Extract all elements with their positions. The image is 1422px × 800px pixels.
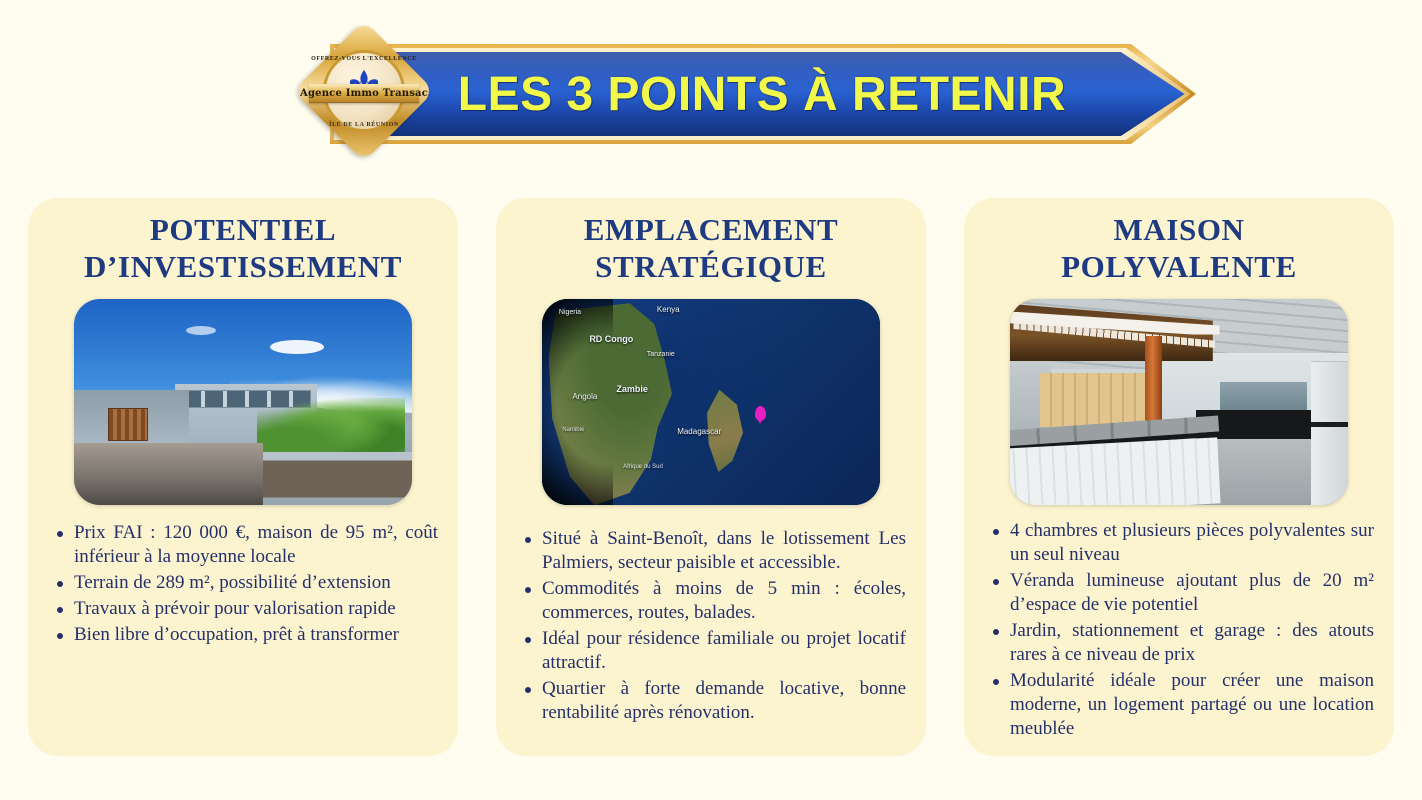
wood-panelling [1040,373,1145,427]
map-label-afrique-du-sud: Afrique du Sud [623,464,663,471]
list-item: Véranda lumineuse ajoutant plus de 20 m²… [986,569,1374,617]
cloud-small [186,326,216,335]
card-title-line2: STRATÉGIQUE [514,249,908,286]
white-cabinet [1311,361,1348,505]
card-title: MAISON POLYVALENTE [982,212,1376,285]
list-item: Travaux à prévoir pour valorisation rapi… [50,597,438,621]
wooden-gate [108,408,149,441]
varnished-post [1145,336,1162,431]
logo-bottom-text: ÎLE DE LA RÉUNION [305,122,423,128]
bullet-list: Situé à Saint-Benoît, dans le lotissemen… [518,527,906,725]
logo-ribbon-text: Agence Immo Transac [300,88,428,99]
map-label-nigeria: Nigeria [559,309,581,316]
ribbon-blue-face: LES 3 POINTS À RETENIR [338,52,1188,136]
logo-ribbon: Agence Immo Transac [309,84,419,103]
cards-row: POTENTIEL D’INVESTISSEMENT Prix FAI : 12… [0,198,1422,758]
property-interior-photo [1010,299,1348,505]
list-item: Commodités à moins de 5 min : écoles, co… [518,577,906,625]
globe-edge-shadow [542,299,613,505]
map-label-rd-congo: RD Congo [589,334,633,344]
map-label-kenya: Kenya [657,305,680,314]
courtyard-ground [74,443,263,505]
card-potentiel-investissement: POTENTIEL D’INVESTISSEMENT Prix FAI : 12… [28,198,458,756]
card-title: POTENTIEL D’INVESTISSEMENT [46,212,440,285]
list-item: Idéal pour résidence familiale ou projet… [518,627,906,675]
map-label-tanzanie: Tanzanie [647,351,675,358]
card-emplacement-strategique: EMPLACEMENT STRATÉGIQUE Nigeria Kenya RD… [496,198,926,756]
card-title-line1: MAISON [1113,212,1244,247]
map-label-angola: Angola [572,392,597,401]
logo-top-text: OFFREZ-VOUS L'EXCELLENCE [305,56,423,62]
bullet-list: Prix FAI : 120 000 €, maison de 95 m², c… [50,521,438,647]
map-label-namibie: Namibie [562,427,584,433]
property-exterior-photo [74,299,412,505]
list-item: Quartier à forte demande locative, bonne… [518,677,906,725]
card-title-line2: POLYVALENTE [982,249,1376,286]
card-title-line1: POTENTIEL [150,212,336,247]
header-banner: LES 3 POINTS À RETENIR ⚜ OFFREZ-VOUS L'E… [0,0,1422,180]
map-label-madagascar: Madagascar [677,427,721,436]
page-title: LES 3 POINTS À RETENIR [338,67,1188,122]
list-item: Jardin, stationnement et garage : des at… [986,619,1374,667]
location-pin-icon [755,406,766,421]
banana-plants [257,398,406,460]
card-title-line2: D’INVESTISSEMENT [46,249,440,286]
list-item: Prix FAI : 120 000 €, maison de 95 m², c… [50,521,438,569]
title-ribbon: LES 3 POINTS À RETENIR [330,44,1196,144]
list-item: Terrain de 289 m², possibilité d’extensi… [50,571,438,595]
bullet-list: 4 chambres et plusieurs pièces polyvalen… [986,519,1374,740]
list-item: Situé à Saint-Benoît, dans le lotissemen… [518,527,906,575]
agency-logo: ⚜ OFFREZ-VOUS L'EXCELLENCE Agence Immo T… [305,32,423,150]
card-title-line1: EMPLACEMENT [584,212,839,247]
map-label-zambie: Zambie [616,384,648,394]
list-item: 4 chambres et plusieurs pièces polyvalen… [986,519,1374,567]
list-item: Bien libre d’occupation, prêt à transfor… [50,623,438,647]
card-title: EMPLACEMENT STRATÉGIQUE [514,212,908,285]
satellite-map-photo: Nigeria Kenya RD Congo Tanzanie Angola Z… [542,299,880,505]
list-item: Modularité idéale pour créer une maison … [986,669,1374,741]
card-maison-polyvalente: MAISON POLYVALENTE 4 chambres et plusieu… [964,198,1394,756]
bar-front-panel [1010,438,1221,505]
cloud-small [270,340,324,354]
interior-window [1220,382,1308,411]
